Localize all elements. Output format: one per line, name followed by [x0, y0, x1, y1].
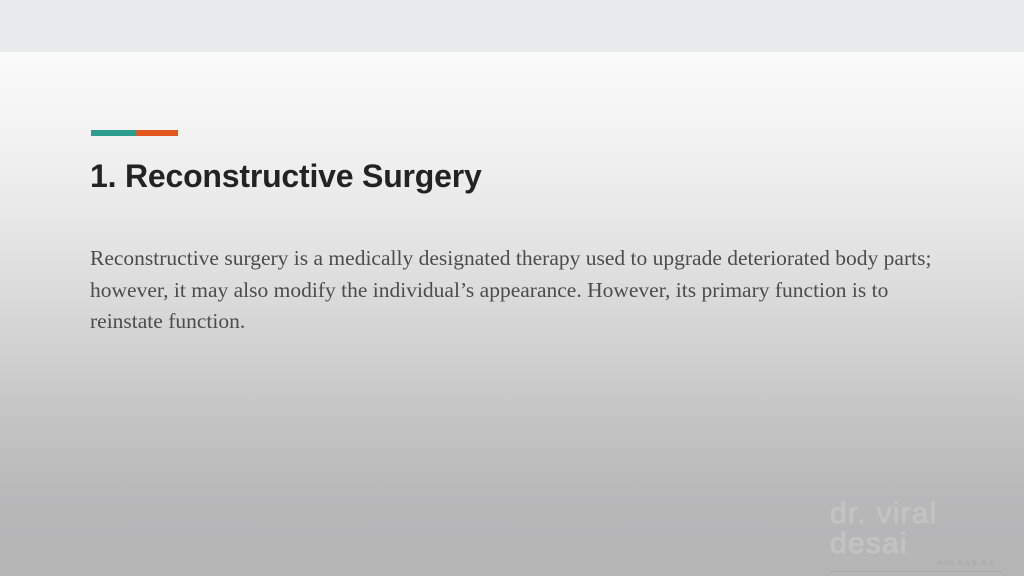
- accent-bar-teal-segment: [91, 130, 135, 136]
- logo-wordmark: dr. viral desai: [826, 499, 1006, 559]
- slide-top-band: [0, 0, 1024, 52]
- presentation-slide: 1. Reconstructive Surgery Reconstructive…: [0, 0, 1024, 576]
- logo-credentials: M.Ch. D.N.B. M.S.: [826, 560, 1006, 567]
- logo-watermark: dr. viral desai M.Ch. D.N.B. M.S. Board …: [826, 499, 1006, 576]
- accent-bar: [91, 130, 178, 136]
- logo-divider: [830, 571, 1002, 572]
- slide-title: 1. Reconstructive Surgery: [90, 158, 482, 195]
- accent-bar-orange-segment: [135, 130, 178, 136]
- slide-body-text: Reconstructive surgery is a medically de…: [90, 243, 950, 338]
